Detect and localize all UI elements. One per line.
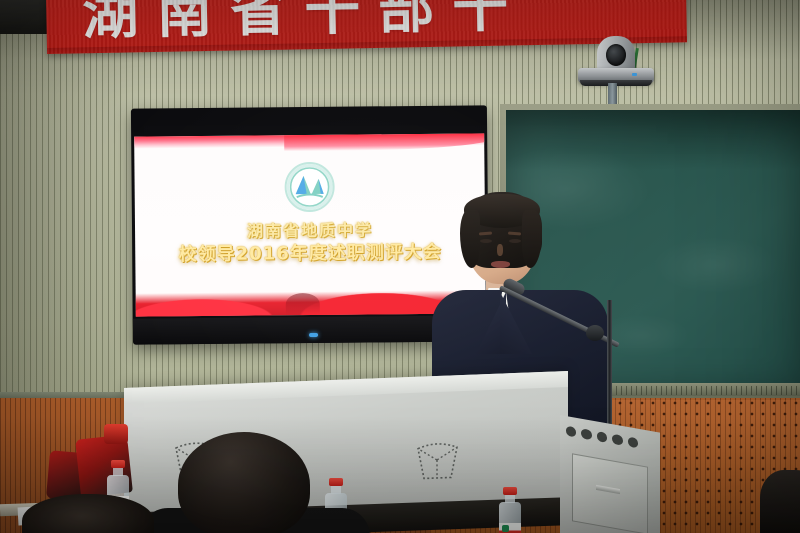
vent-hole (566, 426, 576, 438)
water-bottle (498, 487, 522, 533)
chalkboard-shadow (506, 110, 800, 170)
banner-text: 湖南省干部干 (82, 0, 527, 50)
wall-shadow-left (0, 0, 150, 430)
slide-drape-fold (286, 293, 320, 315)
lectern-motif-icon (410, 437, 464, 483)
logo-outer-ring (286, 164, 332, 210)
conference-room-photo: 湖南省干部干 (0, 0, 800, 533)
speaker-hair-left (460, 210, 480, 268)
bottle-cap (503, 487, 517, 495)
microphone-joint-clip (586, 325, 604, 341)
lectern-cabinet-door[interactable] (572, 453, 648, 533)
speaker-eye-right (509, 239, 521, 243)
speaker-hair-right (522, 210, 542, 268)
camera-status-led (632, 73, 637, 76)
speaker-mouth (491, 261, 510, 268)
bottle-cap (111, 460, 125, 468)
chair-headrest (104, 424, 128, 444)
vent-hole (612, 434, 622, 446)
bottle-label (499, 523, 521, 533)
bottle-cap (329, 478, 343, 486)
camera-lens-icon (606, 44, 626, 66)
vent-hole (597, 431, 607, 443)
bottle-label-mark (502, 525, 509, 532)
audience-member-head (178, 432, 310, 533)
ptz-camera (578, 28, 654, 108)
slide-top-ribbon-swoosh (284, 133, 486, 151)
display-power-led (309, 333, 318, 337)
audience-member-head (760, 470, 800, 533)
speaker-nose (497, 244, 503, 256)
vent-hole (581, 428, 591, 440)
vent-hole (628, 437, 638, 449)
school-crest-logo (284, 162, 334, 212)
speaker-eye-left (480, 239, 492, 243)
